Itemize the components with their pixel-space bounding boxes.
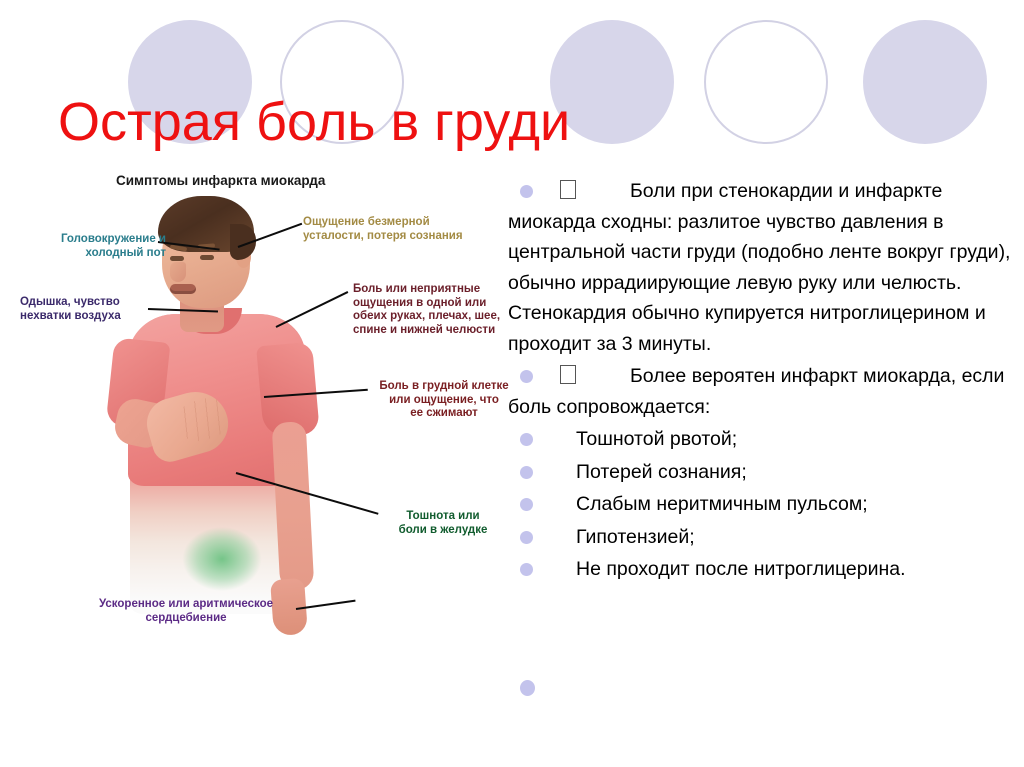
bullet-paragraph-7: Не проходит после нитроглицерина.	[508, 554, 1014, 585]
callout-breathless: Одышка, чувство нехватки воздуха	[20, 296, 170, 323]
bullet-dot-icon	[520, 531, 533, 544]
nose-shape	[170, 262, 186, 282]
decorative-circle-5	[863, 20, 987, 144]
bullet-dot-icon	[520, 498, 533, 511]
mouth-shape	[170, 284, 196, 294]
bullet-paragraph-4: Потерей сознания;	[508, 457, 1014, 488]
trailing-bullet-dot-icon	[520, 680, 535, 696]
missing-glyph-icon	[560, 365, 576, 384]
list-item: Боли при стенокардии и инфаркте миокарда…	[508, 176, 1014, 359]
bullet-paragraph-3: Тошнотой рвотой;	[508, 424, 1014, 455]
bullet-paragraph-1: Боли при стенокардии и инфаркте миокарда…	[508, 176, 1014, 359]
missing-glyph-icon	[560, 180, 576, 199]
bullet-dot-icon	[520, 185, 533, 198]
callout-chest-pain: Боль в грудной клетке или ощущение, что …	[370, 380, 518, 421]
callout-dizziness: Головокружение и холодный пот	[26, 233, 166, 260]
bullet-dot-icon	[520, 466, 533, 479]
bullet-paragraph-5: Слабым неритмичным пульсом;	[508, 489, 1014, 520]
list-item: Слабым неритмичным пульсом;	[508, 489, 1014, 520]
page-title: Острая боль в груди	[58, 91, 570, 153]
left-eye-shape	[170, 256, 184, 261]
callout-fatigue: Ощущение безмерной усталости, потеря соз…	[303, 216, 483, 243]
right-eye-shape	[200, 255, 214, 260]
callout-heartbeat: Ускоренное или аритмическое сердцебиение	[70, 598, 302, 625]
bullet-paragraph-6: Гипотензией;	[508, 522, 1014, 553]
illustration-title: Симптомы инфаркта миокарда	[116, 173, 325, 188]
decorative-circle-4	[704, 20, 828, 144]
bullet-dot-icon	[520, 370, 533, 383]
list-item: Потерей сознания;	[508, 457, 1014, 488]
callout-nausea: Тошнота или боли в желудке	[378, 510, 508, 537]
list-item: Более вероятен инфаркт миокарда, если бо…	[508, 361, 1014, 422]
content-bullet-list: Боли при стенокардии и инфаркте миокарда…	[508, 176, 1014, 587]
myocardial-infarction-illustration: Симптомы инфаркта миокарда	[8, 168, 508, 668]
list-item: Тошнотой рвотой;	[508, 424, 1014, 455]
bullet-dot-icon	[520, 433, 533, 446]
bullet-paragraph-2: Более вероятен инфаркт миокарда, если бо…	[508, 361, 1014, 422]
callout-arm-pain: Боль или неприятные ощущения в одной или…	[353, 283, 533, 337]
bullet-dot-icon	[520, 563, 533, 576]
list-item: Гипотензией;	[508, 522, 1014, 553]
list-item: Не проходит после нитроглицерина.	[508, 554, 1014, 585]
